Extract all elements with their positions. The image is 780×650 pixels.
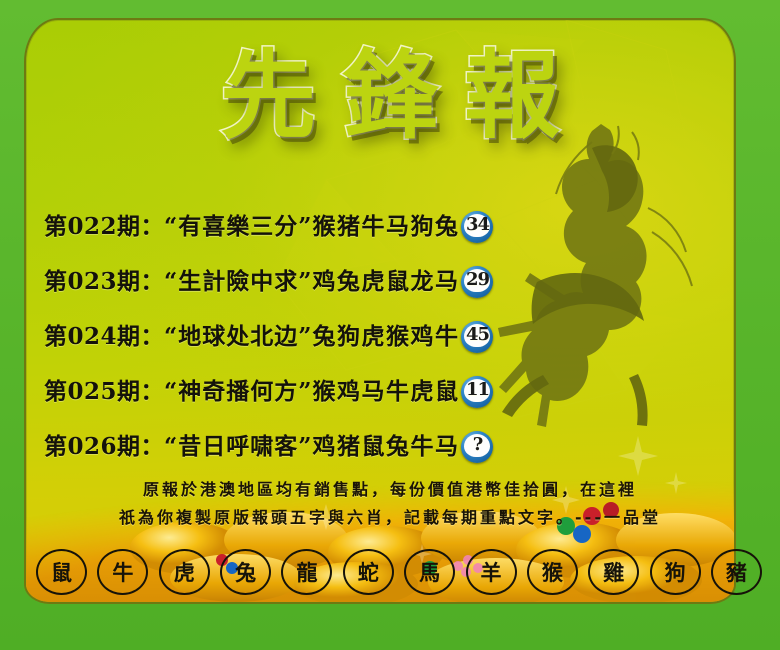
zodiac-label: 雞 xyxy=(603,557,624,587)
lottery-ball: 34 xyxy=(461,211,493,243)
zodiac-label: 龍 xyxy=(296,557,317,587)
zodiac-label: 猴 xyxy=(542,557,563,587)
zodiac-strip: 鼠 牛 虎 兔 龍 蛇 馬 羊 猴 雞 狗 豬 xyxy=(36,548,762,596)
zodiac-rabbit[interactable]: 兔 xyxy=(220,549,271,595)
zodiac-label: 豬 xyxy=(726,557,747,587)
lottery-ball-number: 34 xyxy=(461,213,493,237)
zodiac-label: 鼠 xyxy=(51,557,72,587)
issue-phrase: “神奇播何方” xyxy=(164,372,312,406)
zodiac-label: 蛇 xyxy=(358,557,379,587)
issue-zodiacs: 鸡猪鼠兔牛马 xyxy=(312,427,459,461)
zodiac-monkey[interactable]: 猴 xyxy=(527,549,578,595)
issue-phrase: “有喜樂三分” xyxy=(164,207,312,241)
zodiac-dog[interactable]: 狗 xyxy=(650,549,701,595)
zodiac-rat[interactable]: 鼠 xyxy=(36,549,87,595)
lottery-ball: 29 xyxy=(461,266,493,298)
zodiac-pig[interactable]: 豬 xyxy=(711,549,762,595)
poster-root: 先鋒報 第022期： “有喜樂三分” 猴猪牛马狗兔 34 第023期： “生計險… xyxy=(0,0,780,650)
issue-zodiacs: 猴猪牛马狗兔 xyxy=(312,207,459,241)
issue-zodiacs: 兔狗虎猴鸡牛 xyxy=(312,317,459,351)
zodiac-label: 兔 xyxy=(235,557,256,587)
zodiac-ox[interactable]: 牛 xyxy=(97,549,148,595)
issue-number: 第025期： xyxy=(44,372,164,406)
issue-number: 第022期： xyxy=(44,207,164,241)
lottery-ball: ? xyxy=(461,431,493,463)
zodiac-label: 虎 xyxy=(174,557,195,587)
lottery-ball: 45 xyxy=(461,321,493,353)
issue-row[interactable]: 第025期： “神奇播何方” 猴鸡马牛虎鼠 11 xyxy=(44,361,544,416)
footer-note: 原報於港澳地區均有銷售點，每份價值港幣佳拾圓，在這裡 祇為你複製原版報頭五字與六… xyxy=(40,476,740,532)
issue-row[interactable]: 第024期： “地球处北边” 兔狗虎猴鸡牛 45 xyxy=(44,306,544,361)
issue-row[interactable]: 第026期： “昔日呼啸客” 鸡猪鼠兔牛马 ? xyxy=(44,416,544,471)
issue-zodiacs: 猴鸡马牛虎鼠 xyxy=(312,372,459,406)
issue-number: 第023期： xyxy=(44,262,164,296)
footer-note-line1: 原報於港澳地區均有銷售點，每份價值港幣佳拾圓，在這裡 xyxy=(40,476,740,504)
lottery-ball-number: 11 xyxy=(461,378,493,402)
issue-row[interactable]: 第023期： “生計險中求” 鸡兔虎鼠龙马 29 xyxy=(44,251,544,306)
lottery-ball-number: ? xyxy=(461,433,493,457)
issue-row[interactable]: 第022期： “有喜樂三分” 猴猪牛马狗兔 34 xyxy=(44,196,544,251)
issue-list: 第022期： “有喜樂三分” 猴猪牛马狗兔 34 第023期： “生計險中求” … xyxy=(44,196,544,471)
issue-phrase: “地球处北边” xyxy=(164,317,312,351)
zodiac-goat[interactable]: 羊 xyxy=(466,549,517,595)
issue-number: 第024期： xyxy=(44,317,164,351)
issue-phrase: “生計險中求” xyxy=(164,262,312,296)
zodiac-horse[interactable]: 馬 xyxy=(404,549,455,595)
issue-zodiacs: 鸡兔虎鼠龙马 xyxy=(312,262,459,296)
zodiac-label: 牛 xyxy=(112,557,133,587)
zodiac-label: 馬 xyxy=(419,557,440,587)
lottery-ball-number: 45 xyxy=(461,323,493,347)
footer-note-line2: 祇為你複製原版報頭五字與六肖，記載每期重點文字。---一品堂 xyxy=(40,504,740,532)
zodiac-snake[interactable]: 蛇 xyxy=(343,549,394,595)
issue-number: 第026期： xyxy=(44,427,164,461)
page-title: 先鋒報 xyxy=(0,48,780,144)
zodiac-rooster[interactable]: 雞 xyxy=(588,549,639,595)
zodiac-label: 羊 xyxy=(481,557,502,587)
lottery-ball: 11 xyxy=(461,376,493,408)
issue-phrase: “昔日呼啸客” xyxy=(164,427,312,461)
zodiac-label: 狗 xyxy=(665,557,686,587)
lottery-ball-number: 29 xyxy=(461,268,493,292)
zodiac-dragon[interactable]: 龍 xyxy=(281,549,332,595)
zodiac-tiger[interactable]: 虎 xyxy=(159,549,210,595)
